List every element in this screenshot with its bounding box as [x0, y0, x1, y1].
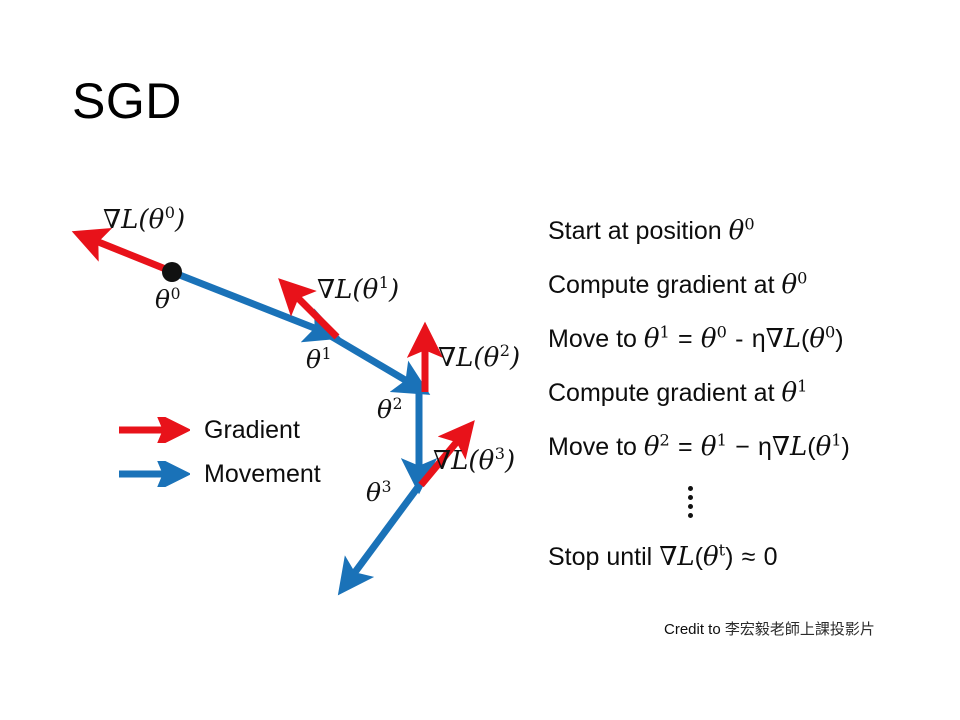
step-4-theta: θ1: [781, 378, 807, 408]
theta1-label: θ1: [306, 347, 331, 372]
credit-line: Credit to 李宏毅老師上課投影片: [664, 618, 875, 639]
sgd-trajectory-diagram: ∇L(θ0) ∇L(θ1) ∇L(θ2) ∇L(θ3) θ0 θ1 θ2 θ3: [55, 185, 555, 605]
slide-canvas: SGD: [0, 0, 960, 720]
grad-label-1: ∇L(θ1): [317, 277, 399, 303]
step-3-text: Move to: [548, 325, 644, 353]
step-6-text: Stop until: [548, 543, 659, 571]
theta0-label: θ0: [155, 287, 180, 312]
algorithm-steps: Start at position θ0 Compute gradient at…: [548, 212, 948, 592]
grad-label-3: ∇L(θ3): [433, 448, 515, 474]
legend: Gradient Movement: [118, 408, 378, 494]
credit-prefix: Credit to: [664, 621, 725, 638]
legend-label-movement: Movement: [204, 460, 321, 489]
step-line-1: Start at position θ0: [548, 212, 948, 266]
step-line-3: Move to θ1 = θ0 - η∇L(θ0): [548, 320, 948, 374]
step-line-4: Compute gradient at θ1: [548, 374, 948, 428]
credit-author: 李宏毅老師上課投影片: [725, 620, 875, 638]
step-5-text: Move to: [548, 433, 644, 461]
legend-item-gradient: Gradient: [118, 412, 300, 448]
step-3-formula: θ1 = θ0 - η∇L(θ0): [644, 324, 844, 354]
vdots-glyph: [688, 482, 693, 522]
gradient-arrow-icon: [118, 417, 190, 443]
step-6-formula: ∇L(θt) ≈ 0: [659, 542, 777, 572]
step-2-text: Compute gradient at: [548, 271, 781, 299]
step-2-theta: θ0: [781, 270, 807, 300]
step-4-text: Compute gradient at: [548, 379, 781, 407]
legend-item-movement: Movement: [118, 456, 321, 492]
gradient-arrow-0: [86, 237, 173, 272]
vertical-ellipsis: [548, 482, 948, 538]
page-title: SGD: [72, 74, 182, 129]
theta0-point-dot: [162, 262, 182, 282]
step-line-5: Move to θ2 = θ1 − η∇L(θ1): [548, 428, 948, 482]
movement-arrow-icon: [118, 461, 190, 487]
step-5-formula: θ2 = θ1 − η∇L(θ1): [644, 432, 850, 462]
theta2-label: θ2: [377, 397, 402, 422]
step-line-2: Compute gradient at θ0: [548, 266, 948, 320]
grad-label-2: ∇L(θ2): [438, 345, 520, 371]
diagram-svg: [55, 185, 555, 605]
movement-arrow-1-to-2: [329, 335, 417, 387]
step-line-6: Stop until ∇L(θt) ≈ 0: [548, 538, 948, 592]
legend-label-gradient: Gradient: [204, 416, 300, 445]
grad-label-0: ∇L(θ0): [103, 207, 185, 233]
step-1-text: Start at position: [548, 217, 729, 245]
step-1-theta: θ0: [729, 216, 755, 246]
